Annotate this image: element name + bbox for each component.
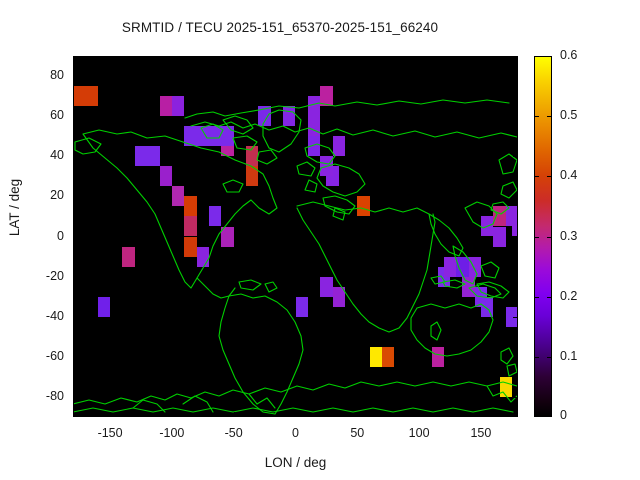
y-axis-tick-mark: [73, 196, 78, 197]
colorbar-tick-mark: [547, 416, 552, 417]
x-axis-tick-mark: [110, 56, 111, 61]
y-axis-tick-mark: [73, 397, 78, 398]
colorbar-tick-label: 0.6: [560, 48, 577, 62]
y-axis-tick-label: 0: [20, 229, 64, 243]
x-axis-tick-mark: [110, 412, 111, 417]
colorbar-tick-mark: [547, 297, 552, 298]
colorbar-tick-label: 0.5: [560, 108, 577, 122]
colorbar-tick-mark: [534, 237, 539, 238]
heatmap-plot-area: [73, 56, 518, 417]
x-axis-tick-mark: [172, 56, 173, 61]
y-axis-tick-mark: [513, 397, 518, 398]
x-axis-tick-label: 100: [389, 426, 449, 440]
y-axis-tick-mark: [513, 277, 518, 278]
x-axis-tick-label: 50: [327, 426, 387, 440]
x-axis-tick-label: 0: [266, 426, 326, 440]
x-axis-tick-mark: [481, 412, 482, 417]
y-axis-tick-mark: [73, 277, 78, 278]
x-axis-tick-mark: [234, 56, 235, 61]
x-axis-tick-label: 150: [451, 426, 511, 440]
coastline-overlay: [73, 56, 518, 417]
y-axis-tick-label: 60: [20, 108, 64, 122]
colorbar-tick-mark: [534, 56, 539, 57]
x-axis-tick-mark: [357, 412, 358, 417]
colorbar-tick-label: 0.1: [560, 349, 577, 363]
y-axis-tick-mark: [73, 76, 78, 77]
y-axis-tick-label: 20: [20, 188, 64, 202]
y-axis-tick-mark: [513, 357, 518, 358]
y-axis-tick-label: -40: [20, 309, 64, 323]
colorbar-tick-label: 0: [560, 408, 567, 422]
x-axis-tick-mark: [296, 412, 297, 417]
colorbar-tick-label: 0.2: [560, 289, 577, 303]
y-axis-tick-label: -60: [20, 349, 64, 363]
colorbar-tick-mark: [547, 56, 552, 57]
colorbar-tick-mark: [534, 116, 539, 117]
colorbar-tick-mark: [547, 237, 552, 238]
colorbar-tick-label: 0.3: [560, 229, 577, 243]
y-axis-tick-mark: [513, 317, 518, 318]
colorbar-tick-mark: [534, 297, 539, 298]
x-axis-tick-mark: [296, 56, 297, 61]
y-axis-tick-mark: [73, 237, 78, 238]
y-axis-tick-mark: [513, 237, 518, 238]
x-axis-tick-mark: [419, 412, 420, 417]
y-axis-tick-mark: [73, 156, 78, 157]
colorbar-tick-mark: [534, 357, 539, 358]
y-axis-tick-label: -80: [20, 389, 64, 403]
colorbar-tick-mark: [547, 176, 552, 177]
colorbar-tick-mark: [534, 176, 539, 177]
x-axis-tick-label: -50: [204, 426, 264, 440]
colorbar-tick-mark: [547, 116, 552, 117]
y-axis-tick-mark: [513, 116, 518, 117]
x-axis-tick-mark: [172, 412, 173, 417]
x-axis-tick-mark: [481, 56, 482, 61]
plot-root: SRMTID / TECU 2025-151_65370-2025-151_66…: [0, 0, 640, 480]
y-axis-tick-label: 80: [20, 68, 64, 82]
x-axis-tick-label: -150: [80, 426, 140, 440]
colorbar-tick-mark: [534, 416, 539, 417]
y-axis-tick-mark: [513, 196, 518, 197]
y-axis-tick-mark: [73, 357, 78, 358]
y-axis-tick-mark: [73, 116, 78, 117]
colorbar-tick-mark: [547, 357, 552, 358]
colorbar-tick-label: 0.4: [560, 168, 577, 182]
y-axis-tick-label: 40: [20, 148, 64, 162]
y-axis-tick-label: -20: [20, 269, 64, 283]
x-axis-label: LON / deg: [73, 455, 518, 470]
x-axis-tick-mark: [419, 56, 420, 61]
x-axis-tick-mark: [357, 56, 358, 61]
x-axis-tick-label: -100: [142, 426, 202, 440]
y-axis-tick-mark: [513, 76, 518, 77]
y-axis-tick-mark: [73, 317, 78, 318]
x-axis-tick-mark: [234, 412, 235, 417]
page-title: SRMTID / TECU 2025-151_65370-2025-151_66…: [0, 20, 560, 35]
y-axis-tick-mark: [513, 156, 518, 157]
